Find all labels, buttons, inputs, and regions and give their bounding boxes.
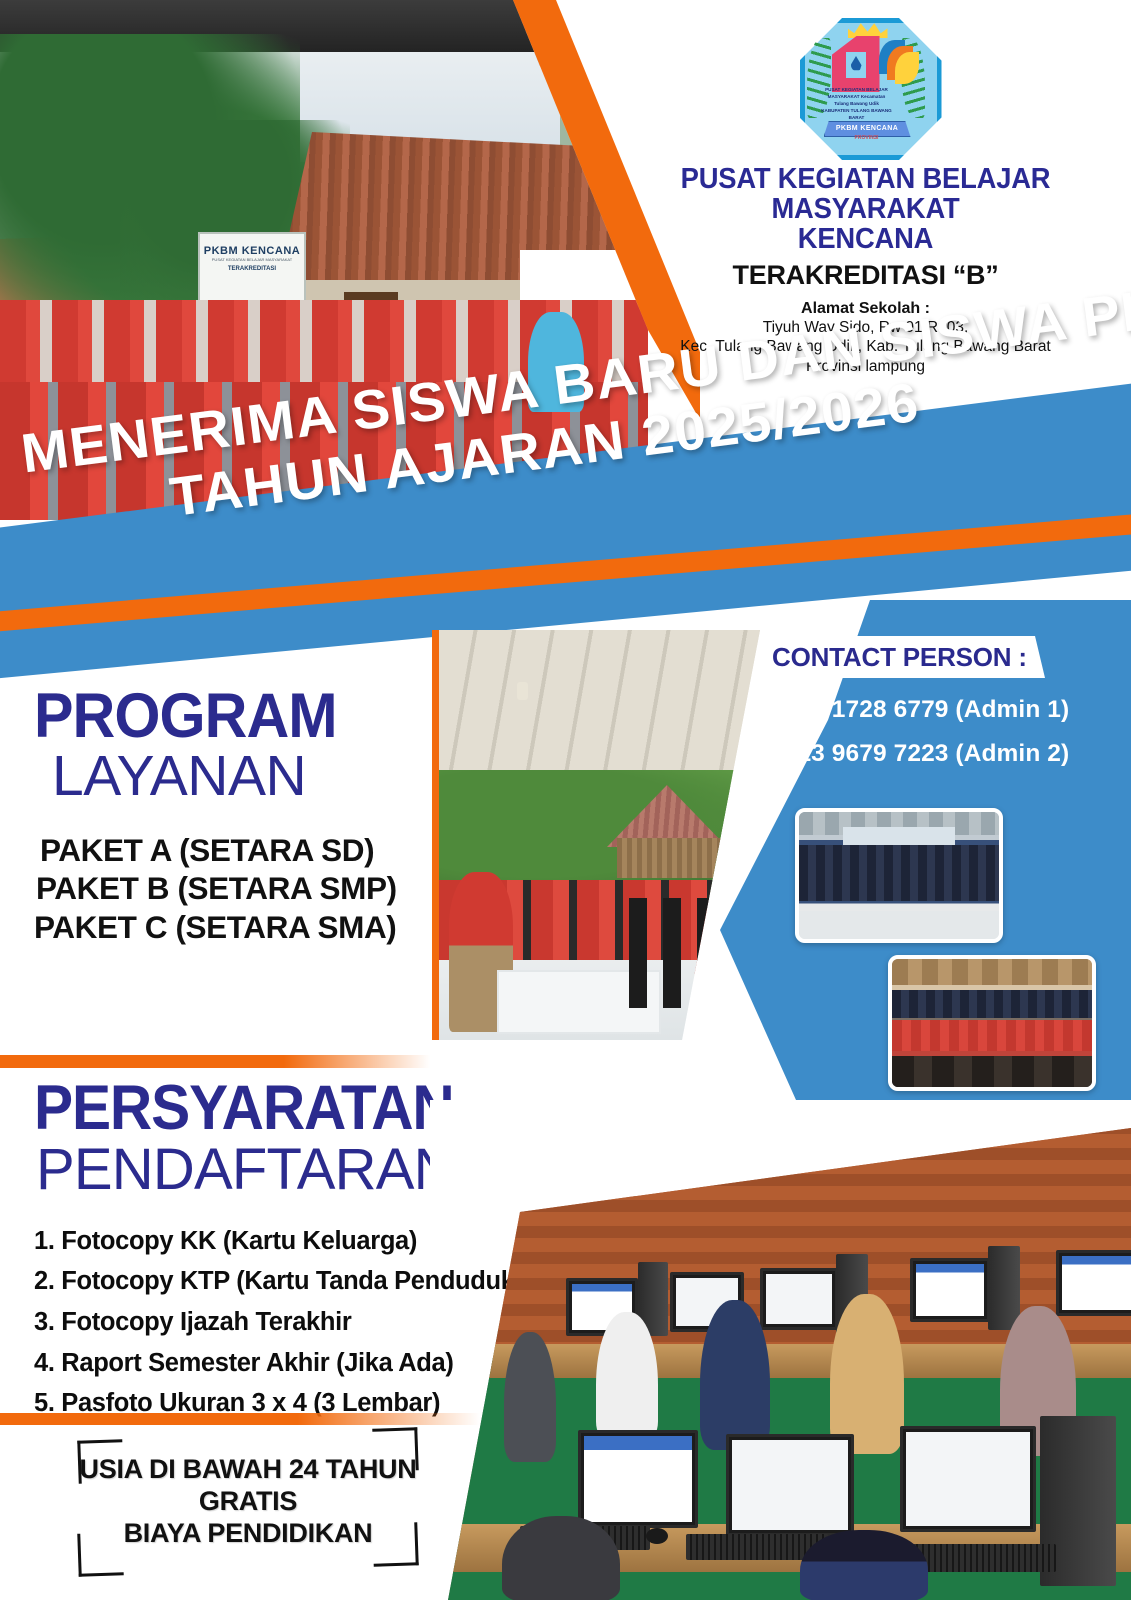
address-line-2: Kec. Tulang Bawang Udik, Kab. Tulang Baw… bbox=[600, 337, 1131, 357]
contact-row-admin-1[interactable]: 0822 1728 6779 (Admin 1) bbox=[748, 696, 1108, 724]
lab-keyboard bbox=[906, 1544, 1056, 1572]
lab-student bbox=[504, 1332, 556, 1462]
program-section: PROGRAM LAYANAN PAKET A (SETARA SD) PAKE… bbox=[34, 688, 434, 946]
address-label: Alamat Sekolah : bbox=[600, 300, 1131, 318]
bullet-icon bbox=[748, 702, 760, 714]
photo1-backdrop bbox=[843, 827, 955, 845]
photo1-crowd-row-2 bbox=[799, 873, 999, 901]
orange-divider-2 bbox=[0, 1413, 480, 1425]
lab-student-front bbox=[502, 1516, 620, 1600]
requirements-list: 1. Fotocopy KK (Kartu Keluarga) 2. Fotoc… bbox=[34, 1221, 504, 1424]
lab-monitor bbox=[726, 1434, 854, 1536]
program-subtitle: LAYANAN bbox=[52, 748, 434, 805]
photo2-crowd-row-2 bbox=[892, 1020, 1092, 1051]
lab-monitor bbox=[900, 1426, 1036, 1532]
program-item: PAKET C (SETARA SMA) bbox=[34, 908, 434, 946]
lab-screen bbox=[584, 1436, 692, 1522]
bracket-top-left bbox=[77, 1439, 123, 1484]
free-tuition-line-2: GRATIS bbox=[78, 1486, 418, 1518]
contact-number-2: 0813 9679 7223 (Admin 2) bbox=[770, 740, 1069, 767]
list-item: 3. Fotocopy Ijazah Terakhir bbox=[34, 1302, 504, 1343]
photo-student-cyan bbox=[528, 312, 584, 412]
photo-sign-title: PKBM KENCANA bbox=[200, 245, 304, 257]
gallery-photo-2 bbox=[888, 955, 1096, 1091]
orange-divider-1 bbox=[0, 1055, 430, 1068]
lab-screen bbox=[766, 1274, 832, 1324]
lab-student-front-cap bbox=[800, 1530, 928, 1600]
lab-student bbox=[596, 1312, 658, 1442]
photo-canopy bbox=[439, 630, 760, 780]
photo1-crowd-row-1 bbox=[799, 845, 999, 873]
photo2-roof bbox=[892, 959, 1092, 985]
bracket-top-right bbox=[372, 1427, 418, 1472]
program-title: PROGRAM bbox=[34, 688, 410, 746]
list-item: 4. Raport Semester Akhir (Jika Ada) bbox=[34, 1343, 504, 1384]
lab-screen bbox=[1062, 1256, 1131, 1310]
free-tuition-line-3: BIAYA PENDIDIKAN bbox=[78, 1518, 418, 1550]
outdoor-class-photo bbox=[432, 630, 760, 1040]
photo2-crowd-row-1 bbox=[892, 990, 1092, 1018]
program-list: PAKET A (SETARA SD) PAKET B (SETARA SMP)… bbox=[34, 831, 434, 946]
logo-sub-text: PROVINSI bbox=[841, 135, 893, 141]
lab-pc-tower bbox=[988, 1246, 1020, 1330]
free-tuition-box: USIA DI BAWAH 24 TAHUN GRATIS BIAYA PEND… bbox=[78, 1440, 418, 1572]
lab-screen bbox=[732, 1440, 848, 1530]
requirements-title: PERSYARATAN bbox=[34, 1080, 471, 1138]
gallery-photo-1 bbox=[795, 808, 1003, 943]
list-item: 2. Fotocopy KTP (Kartu Tanda Penduduk) bbox=[34, 1261, 504, 1302]
lab-screen bbox=[906, 1432, 1030, 1526]
pkbm-logo: PUSAT KEGIATAN BELAJAR MASYARAKAT Kecama… bbox=[791, 14, 941, 158]
photo-canopy-lamp bbox=[517, 682, 528, 700]
contact-person-label-badge: CONTACT PERSON : bbox=[760, 636, 1045, 678]
contact-person-label: CONTACT PERSON : bbox=[760, 636, 1045, 678]
lab-monitor bbox=[578, 1430, 698, 1528]
organization-title: PUSAT KEGIATAN BELAJAR MASYARAKAT KENCAN… bbox=[611, 164, 1121, 255]
lab-monitor bbox=[1056, 1250, 1131, 1316]
contact-row-admin-2[interactable]: 0813 9679 7223 (Admin 2) bbox=[748, 740, 1108, 768]
accreditation-text: TERAKREDITASI “B” bbox=[600, 260, 1131, 291]
lab-mouse bbox=[646, 1528, 668, 1544]
address-line-3: Provinsi lampung bbox=[600, 357, 1131, 377]
address-line-1: Tiyuh Way Sido, Rw 01 Rt 03, bbox=[600, 318, 1131, 338]
photo-sign-accreditation: TERAKREDITASI bbox=[200, 266, 304, 272]
bullet-icon bbox=[748, 746, 760, 758]
photo1-floor bbox=[799, 911, 999, 939]
bracket-bottom-right bbox=[372, 1522, 418, 1567]
org-title-line2: KENCANA bbox=[611, 224, 1121, 254]
free-tuition-line-1: USIA DI BAWAH 24 TAHUN bbox=[78, 1440, 418, 1486]
lab-student bbox=[830, 1294, 904, 1454]
program-item: PAKET B (SETARA SMP) bbox=[36, 869, 434, 907]
photo-fence bbox=[617, 838, 737, 878]
header-block: PUSAT KEGIATAN BELAJAR MASYARAKAT Kecama… bbox=[600, 14, 1131, 376]
bracket-bottom-left bbox=[77, 1532, 123, 1577]
contact-number-1: 0822 1728 6779 (Admin 1) bbox=[770, 696, 1069, 723]
lab-screen bbox=[916, 1264, 984, 1316]
lab-student bbox=[700, 1300, 770, 1450]
poster-root: PKBM KENCANA PUSAT KEGIATAN BELAJAR MASY… bbox=[0, 0, 1131, 1600]
lab-monitor bbox=[910, 1258, 990, 1322]
photo-sign-sub: PUSAT KEGIATAN BELAJAR MASYARAKAT bbox=[200, 257, 304, 263]
org-title-line1: PUSAT KEGIATAN BELAJAR MASYARAKAT bbox=[681, 163, 1051, 225]
photo2-foreground bbox=[892, 1056, 1092, 1087]
program-item: PAKET A (SETARA SD) bbox=[40, 831, 434, 869]
lab-monitor bbox=[760, 1268, 838, 1330]
